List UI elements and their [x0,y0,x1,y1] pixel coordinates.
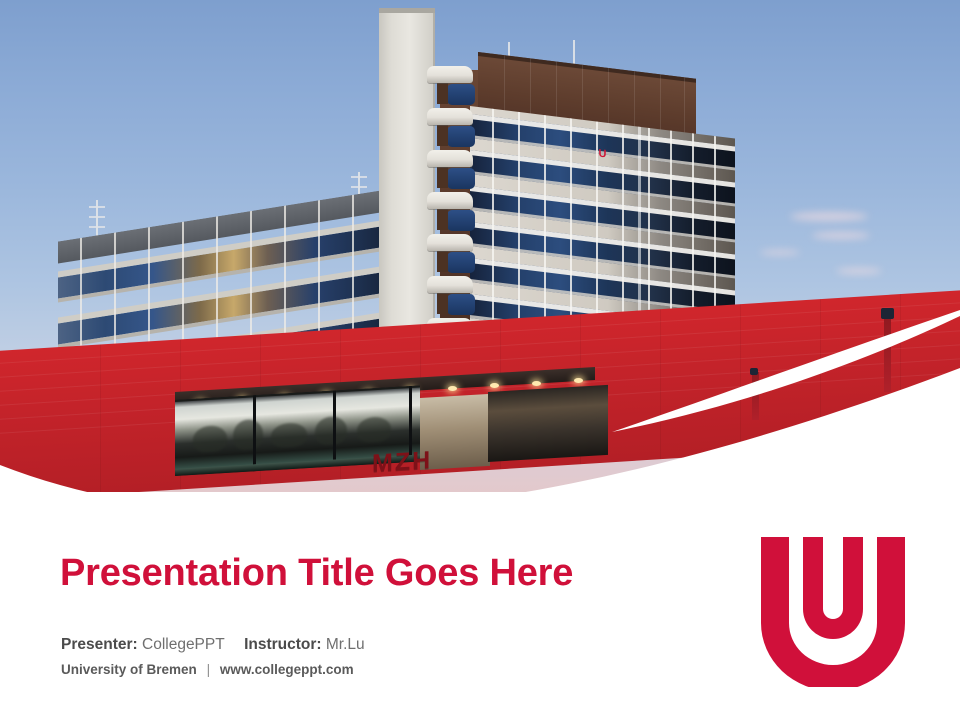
roof-vent [881,308,894,319]
separator: | [201,662,217,677]
organization-line: University of Bremen | www.collegeppt.co… [61,662,354,677]
roof-mast-arm [89,226,105,228]
downlight [532,381,541,386]
website-url[interactable]: www.collegeppt.com [220,662,354,677]
facade-university-logo: U [596,147,609,161]
hero-photo: U [0,0,960,492]
roof-mast-arm [89,216,105,218]
balcony-window [447,168,475,189]
facade-post [884,316,891,392]
downlight [490,383,499,388]
balcony-window [447,252,475,273]
foyer-interior [488,385,608,462]
balcony-window [447,84,475,105]
balcony-window [447,210,475,231]
roof-mast-arm [351,176,367,178]
roof-mast-arm [89,206,105,208]
balcony-window [447,294,475,315]
logo-inner-u [803,537,863,639]
cloud [836,268,882,274]
presenter-label: Presenter: [61,636,138,653]
presenter-line: Presenter: CollegePPT Instructor: Mr.Lu [61,636,365,654]
downlight [574,378,583,383]
instructor-value: Mr.Lu [326,636,365,653]
roof-vent [750,368,758,375]
cloud [812,232,870,239]
balcony [427,276,473,293]
balcony [427,150,473,167]
instructor-label: Instructor: [244,636,322,653]
presentation-title-slide: U [0,0,960,720]
organization-name: University of Bremen [61,662,197,677]
mzh-building-sign: MZH [372,446,432,479]
presenter-value: CollegePPT [142,636,224,653]
balcony [427,108,473,125]
downlight [448,386,457,391]
balcony-window [447,126,475,147]
university-of-bremen-u-logo [757,537,909,687]
cloud [760,250,800,255]
page-title: Presentation Title Goes Here [60,552,573,595]
balcony [427,66,473,83]
logo-outer-u [761,537,905,687]
roof-mast-arm [351,186,367,188]
cloud [790,212,868,221]
balcony [427,192,473,209]
facade-post [752,372,759,420]
balcony [427,234,473,251]
